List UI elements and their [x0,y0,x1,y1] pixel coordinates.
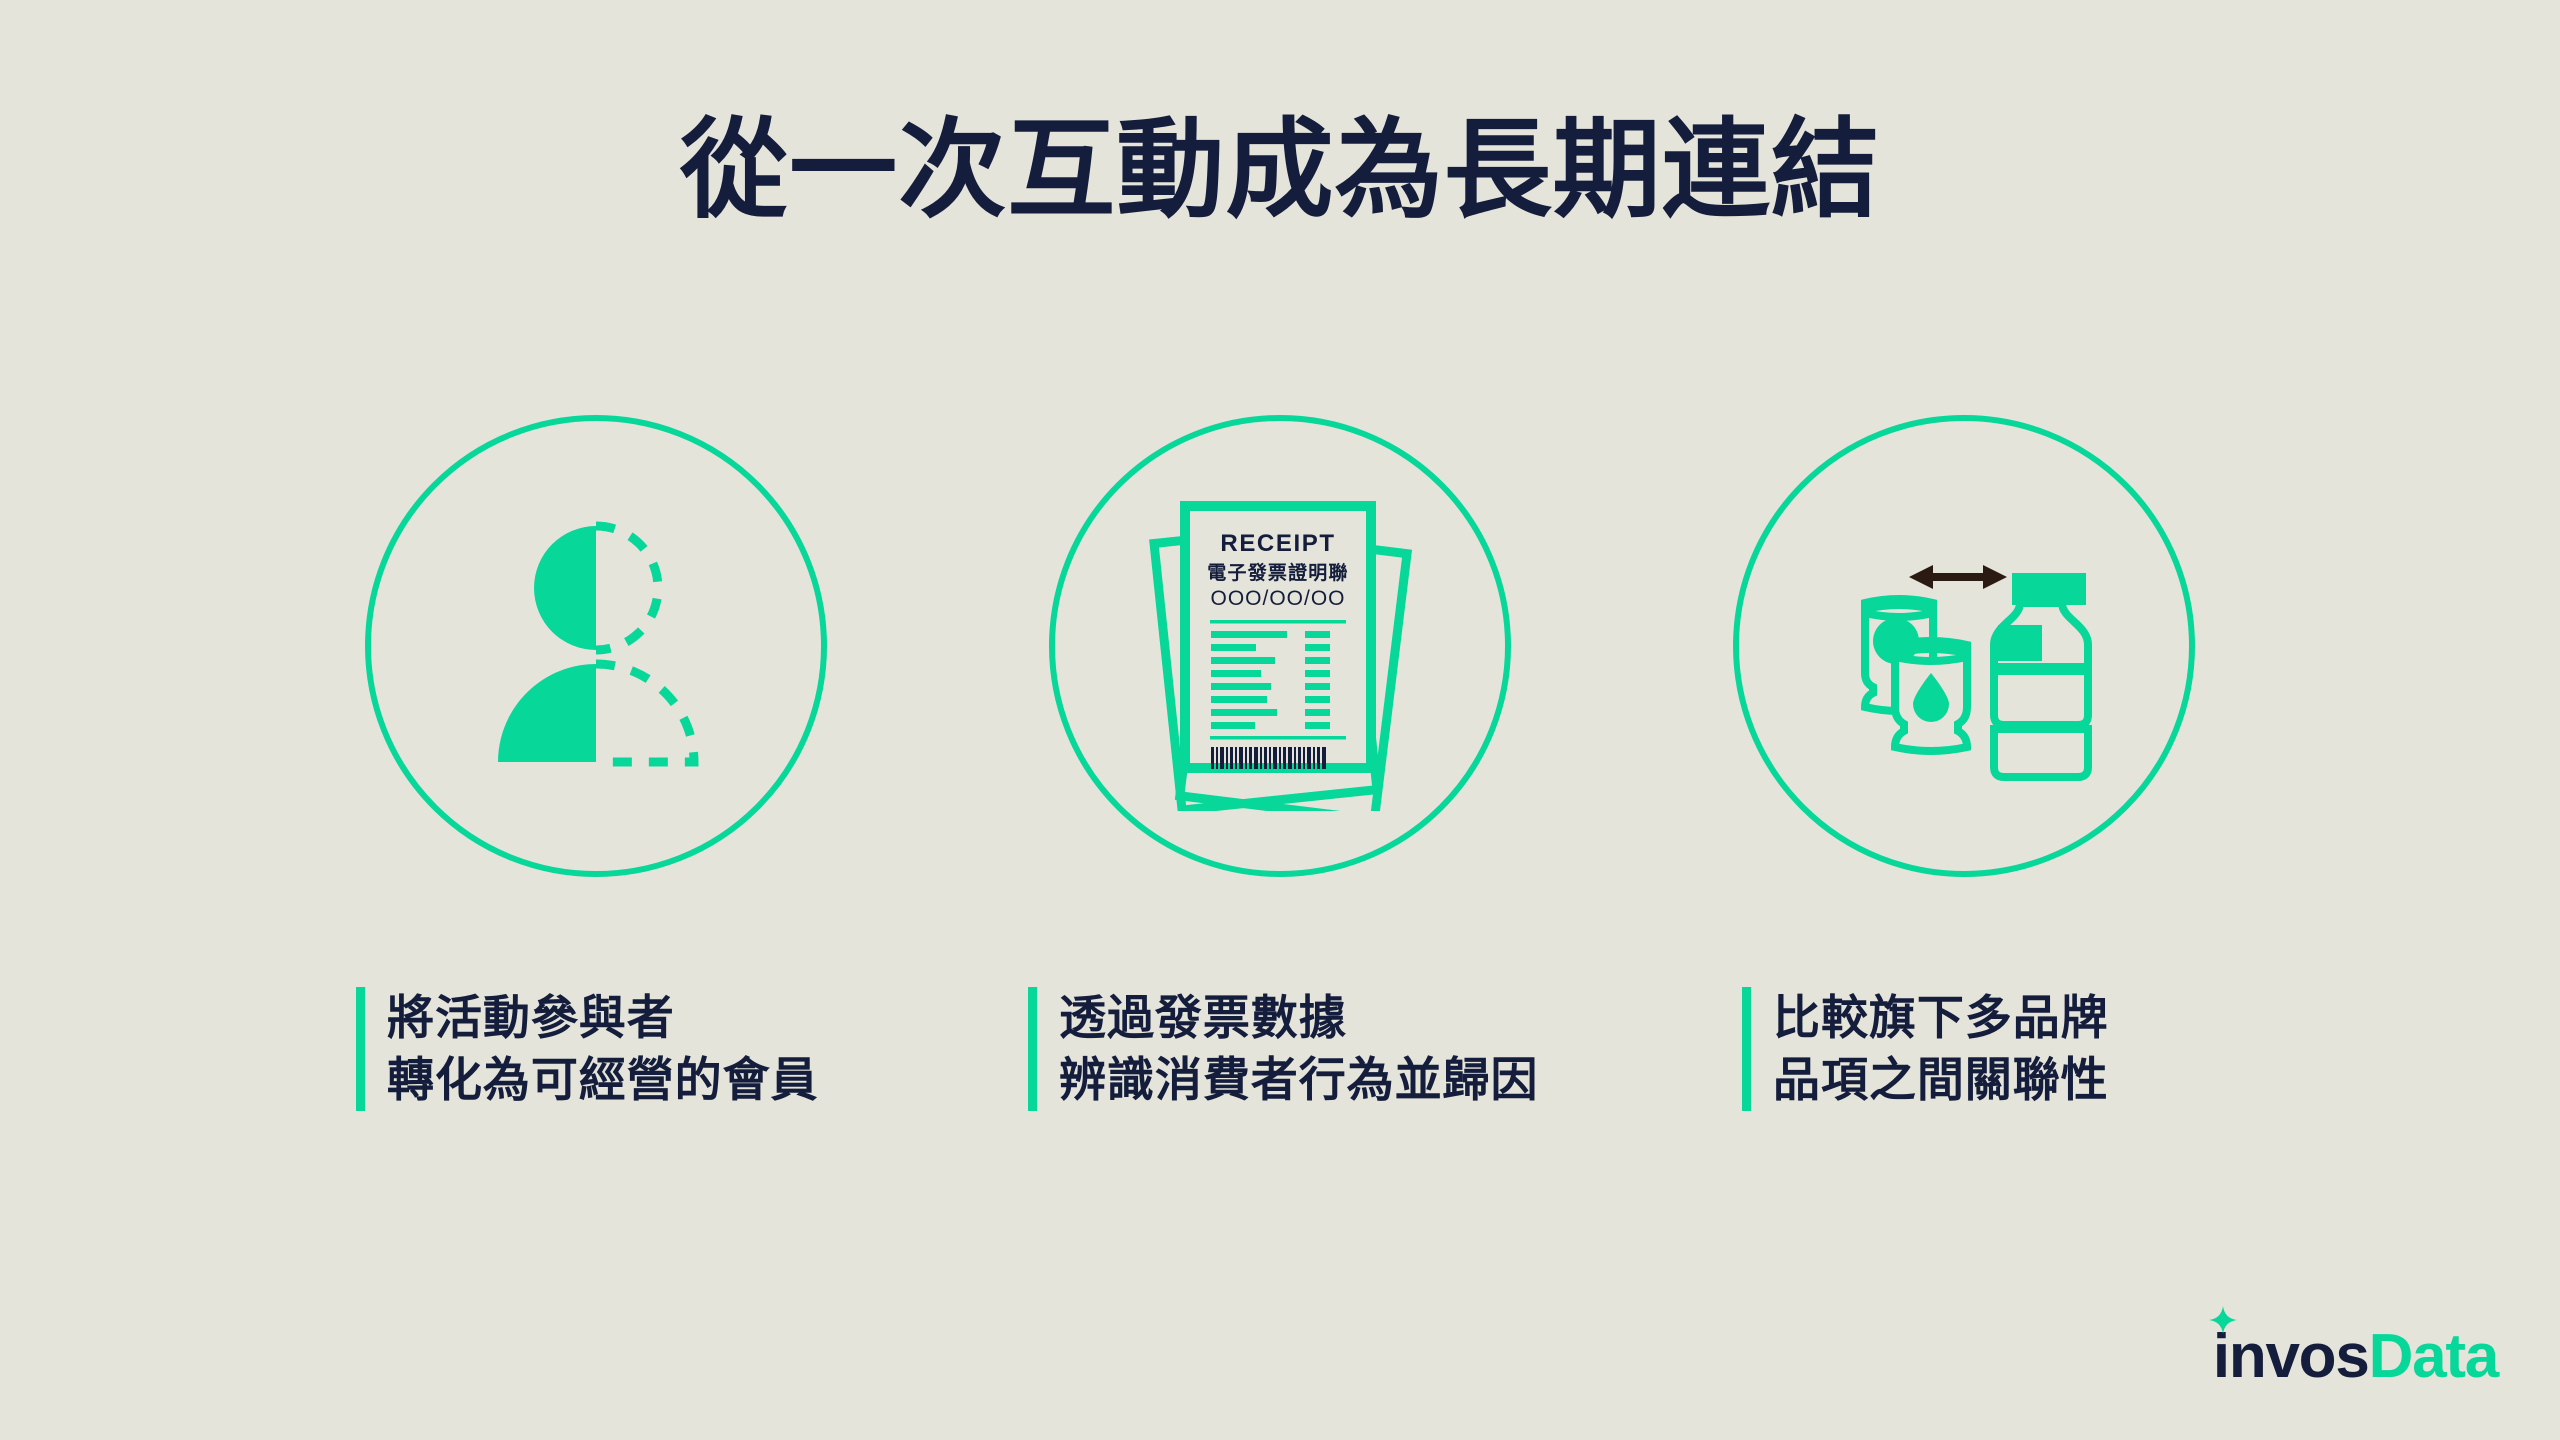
beverage-comparison-icon [1799,481,2129,811]
caption-text: 透過發票數據 辨識消費者行為並歸因 [1059,987,1538,1111]
caption-line: 將活動參與者 [387,987,818,1049]
caption-line: 品項之間關聯性 [1773,1049,2109,1111]
caption-line: 辨識消費者行為並歸因 [1059,1049,1538,1111]
page-title: 從一次互動成為長期連結 [0,110,2560,231]
feature-columns: 將活動參與者 轉化為可經營的會員 [0,415,2560,1111]
can-front [1895,641,1967,751]
feature-column-3: 比較旗下多品牌 品項之間關聯性 [1724,415,2204,1111]
caption-line: 透過發票數據 [1059,987,1538,1049]
member-profile-icon-circle [365,415,827,877]
receipt-subheading: 電子發票證明聯 [1207,561,1348,584]
caption-accent-bar [356,987,365,1111]
slide-root: 從一次互動成為長期連結 將活動參與者 [0,0,2560,1440]
feature-column-1: 將活動參與者 轉化為可經營的會員 [356,415,836,1111]
receipt-stack-icon: RECEIPT 電子發票證明聯 OOO/OO/OO [1115,481,1445,811]
caption-accent-bar [1742,987,1751,1111]
beverage-comparison-icon-circle [1733,415,2195,877]
caption-accent-bar [1028,987,1037,1111]
caption-text: 將活動參與者 轉化為可經營的會員 [387,987,818,1111]
caption-line: 轉化為可經營的會員 [387,1049,818,1111]
logo-wordmark: invosData [2213,1326,2498,1388]
feature-caption-2: 透過發票數據 辨識消費者行為並歸因 [1028,987,1538,1111]
bottle [1994,577,2088,777]
receipt-heading: RECEIPT [1220,530,1335,557]
logo-text-data: Data [2369,1322,2498,1391]
receipt-number: OOO/OO/OO [1210,587,1345,610]
feature-caption-3: 比較旗下多品牌 品項之間關聯性 [1742,987,2109,1111]
double-arrow-icon [1909,565,2007,589]
caption-line: 比較旗下多品牌 [1773,987,2109,1049]
feature-caption-1: 將活動參與者 轉化為可經營的會員 [356,987,818,1111]
caption-text: 比較旗下多品牌 品項之間關聯性 [1773,987,2109,1111]
brand-logo: invosData [2213,1318,2498,1388]
member-profile-icon [436,486,756,806]
feature-column-2: RECEIPT 電子發票證明聯 OOO/OO/OO [1040,415,1520,1111]
sparkle-icon [2209,1306,2237,1334]
receipt-stack-icon-circle: RECEIPT 電子發票證明聯 OOO/OO/OO [1049,415,1511,877]
